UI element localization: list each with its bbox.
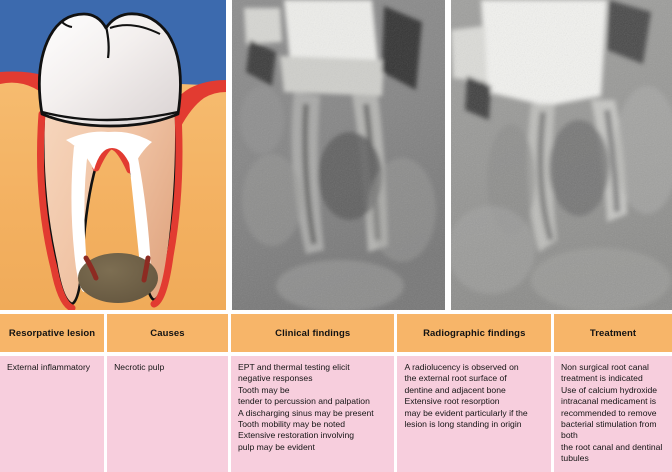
radiograph-2-graphic (451, 0, 672, 310)
column-header-lesion: Resorpative lesion (0, 314, 104, 352)
panel-radiograph-2 (451, 0, 672, 310)
column-header-radiographic: Radiographic findings (397, 314, 551, 352)
resorption-summary-table: Resorpative lesion Causes Clinical findi… (0, 314, 672, 472)
cell-clinical: EPT and thermal testing elicit negative … (231, 356, 394, 472)
restoration-bright-4 (451, 26, 487, 82)
trabecular-bone-7 (531, 248, 671, 310)
radiograph-1-graphic (232, 0, 445, 310)
cell-treatment: Non surgical root canal treatment is ind… (554, 356, 672, 472)
restoration-bright-2 (244, 8, 282, 44)
external-resorption-radiolucency (549, 120, 609, 216)
restoration-bright-3 (481, 0, 607, 106)
table-header-row: Resorpative lesion Causes Clinical findi… (0, 314, 672, 352)
cell-radiographic: A radiolucency is observed on the extern… (397, 356, 551, 472)
panel-illustration (0, 0, 226, 310)
cell-causes: Necrotic pulp (107, 356, 228, 472)
column-header-clinical: Clinical findings (231, 314, 395, 352)
crown-shadow-1 (280, 56, 384, 96)
dental-resorption-figure: Resorpative lesion Causes Clinical findi… (0, 0, 672, 472)
table-row: External inflammatory Necrotic pulp EPT … (0, 356, 672, 472)
image-strip (0, 0, 672, 310)
trabecular-bone-2 (368, 158, 436, 262)
cell-lesion: External inflammatory (0, 356, 104, 472)
column-header-causes: Causes (107, 314, 228, 352)
panel-radiograph-1 (232, 0, 445, 310)
trabecular-bone-4 (240, 86, 284, 154)
column-header-treatment: Treatment (554, 314, 672, 352)
trabecular-bone-3 (276, 260, 404, 310)
trabecular-bone-6 (451, 206, 535, 294)
tooth-illustration-graphic (0, 0, 226, 310)
trabecular-bone-1 (242, 154, 302, 246)
crown-enamel (39, 14, 180, 126)
